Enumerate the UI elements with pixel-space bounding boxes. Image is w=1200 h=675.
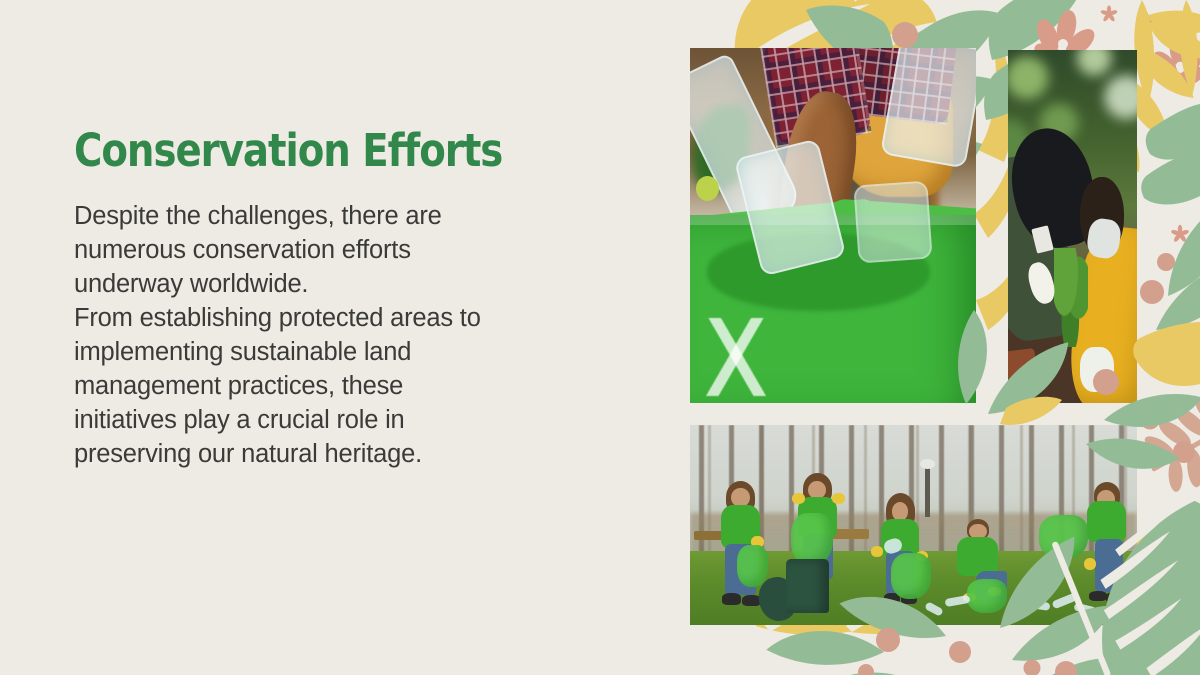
yellow-fan-leaf [1130, 520, 1200, 630]
salmon-fern-frond [1130, 372, 1200, 507]
body-line: numerous conservation efforts [74, 236, 411, 264]
text-column: Conservation Efforts Despite the challen… [74, 128, 634, 471]
photo-cleanup [690, 425, 1137, 625]
photo-recycling [690, 48, 976, 403]
body-line: Despite the challenges, there are [74, 202, 442, 230]
photo-planting [1008, 50, 1137, 403]
body-line: implementing sustainable land [74, 338, 411, 366]
body-line: initiatives play a crucial role in [74, 406, 405, 434]
slide-canvas: Conservation Efforts Despite the challen… [0, 0, 1200, 675]
body-line: underway worldwide. [74, 270, 308, 298]
body-line: management practices, these [74, 372, 403, 400]
body-paragraph-1: Despite the challenges, there are numero… [74, 199, 634, 301]
green-leaf [1141, 104, 1200, 366]
body-line: From establishing protected areas to [74, 304, 481, 332]
page-title: Conservation Efforts [74, 128, 556, 173]
body-text: Despite the challenges, there are numero… [74, 199, 634, 471]
body-line: preserving our natural heritage. [74, 440, 422, 468]
body-paragraph-2: From establishing protected areas to imp… [74, 301, 634, 471]
